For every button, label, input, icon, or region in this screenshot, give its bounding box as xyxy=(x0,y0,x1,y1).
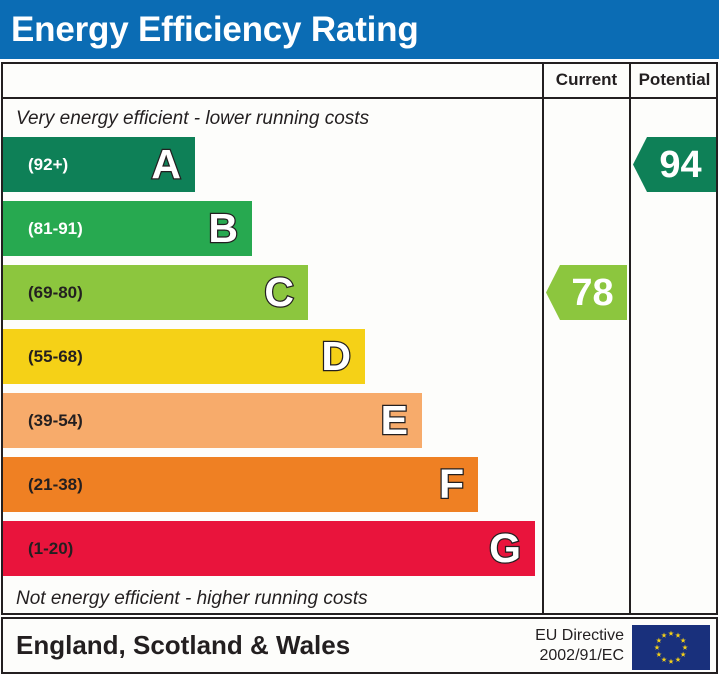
rating-band-e: (39-54)E xyxy=(3,393,422,448)
caption-efficient: Very energy efficient - lower running co… xyxy=(16,108,369,130)
rating-band-c: (69-80)C xyxy=(3,265,308,320)
current-rating-arrow: 78 xyxy=(546,265,627,320)
band-range-label: (81-91) xyxy=(3,220,83,237)
band-range-label: (21-38) xyxy=(3,476,83,493)
eu-directive-line2: 2002/91/EC xyxy=(535,646,624,666)
footer-region-label: England, Scotland & Wales xyxy=(3,630,350,661)
energy-efficiency-rating-chart: Energy Efficiency Rating Current Potenti… xyxy=(0,0,719,675)
band-letter-label: B xyxy=(208,208,252,249)
band-range-label: (92+) xyxy=(3,156,68,173)
column-header-potential: Potential xyxy=(631,62,718,98)
page-title: Energy Efficiency Rating xyxy=(0,12,419,47)
band-range-label: (1-20) xyxy=(3,540,73,557)
potential-rating-arrow: 94 xyxy=(633,137,716,192)
eu-flag-icon xyxy=(632,625,710,670)
band-letter-label: E xyxy=(381,400,422,441)
eu-directive-text: EU Directive 2002/91/EC xyxy=(535,626,624,665)
band-letter-label: C xyxy=(264,272,308,313)
band-letter-label: G xyxy=(489,528,535,569)
rating-band-f: (21-38)F xyxy=(3,457,478,512)
band-range-label: (69-80) xyxy=(3,284,83,301)
column-header-current: Current xyxy=(544,62,629,98)
band-range-label: (55-68) xyxy=(3,348,83,365)
current-column-divider xyxy=(542,62,544,615)
rating-band-b: (81-91)B xyxy=(3,201,252,256)
band-letter-label: D xyxy=(321,336,365,377)
eu-directive-line1: EU Directive xyxy=(535,626,624,646)
rating-band-g: (1-20)G xyxy=(3,521,535,576)
caption-inefficient: Not energy efficient - higher running co… xyxy=(16,588,368,610)
rating-band-a: (92+)A xyxy=(3,137,195,192)
rating-band-d: (55-68)D xyxy=(3,329,365,384)
potential-column-divider xyxy=(629,62,631,615)
footer-bar: England, Scotland & Wales EU Directive 2… xyxy=(1,617,718,674)
title-bar: Energy Efficiency Rating xyxy=(0,0,719,59)
band-letter-label: A xyxy=(151,144,195,185)
band-letter-label: F xyxy=(439,464,478,505)
band-range-label: (39-54) xyxy=(3,412,83,429)
